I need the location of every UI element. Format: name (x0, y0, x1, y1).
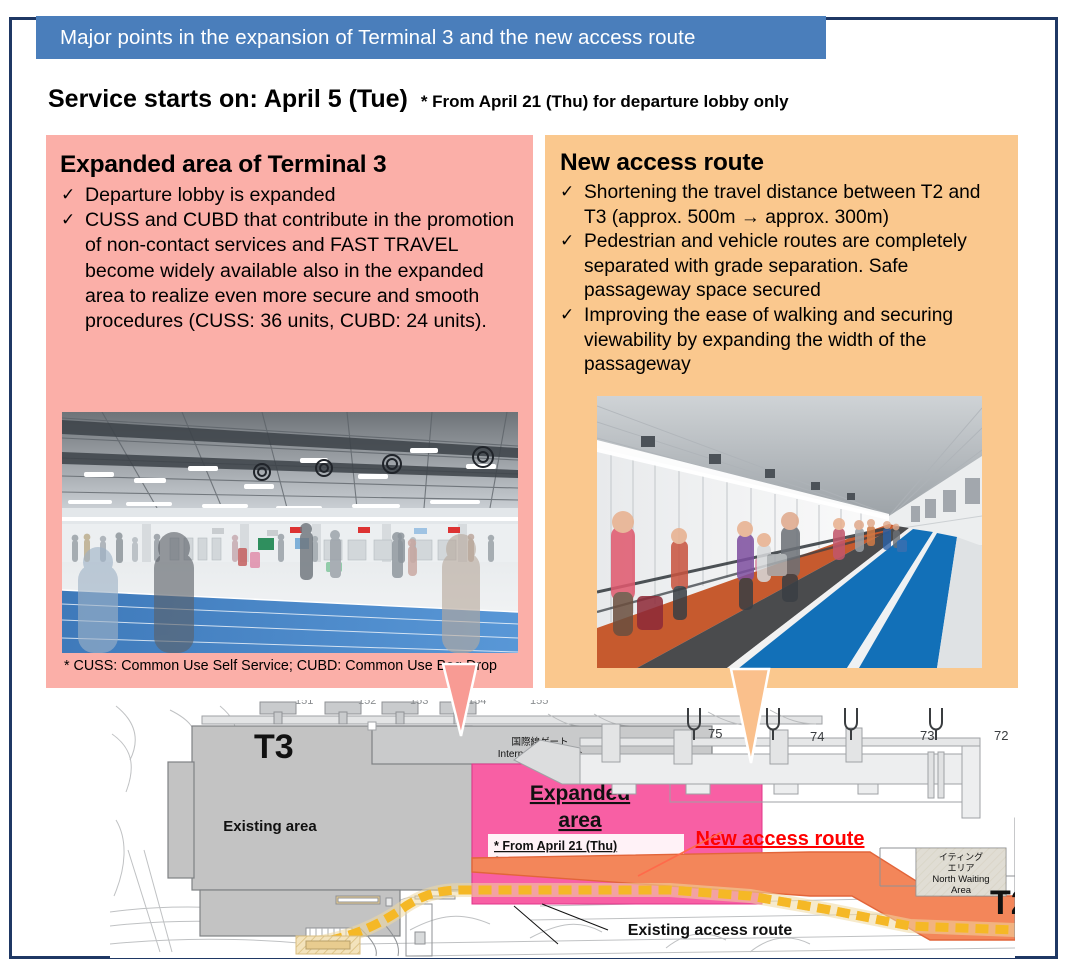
svg-text:152: 152 (358, 700, 376, 707)
list-item: ✓ CUSS and CUBD that contribute in the p… (60, 208, 521, 334)
list-item-label: Pedestrian and vehicle routes are comple… (584, 231, 967, 301)
panel-left-heading: Expanded area of Terminal 3 (46, 135, 533, 181)
list-item: ✓ Pedestrian and vehicle routes are comp… (559, 230, 1006, 304)
map-expanded-note-line1: * From April 21 (Thu) (494, 839, 617, 853)
panel-left-bullets: ✓ Departure lobby is expanded ✓ CUSS and… (46, 181, 533, 334)
map-label-t2: T2 (990, 884, 1015, 922)
map-label-existing-area: Existing area (223, 818, 317, 835)
list-item-label: Improving the ease of walking and securi… (584, 305, 953, 375)
map-north-waiting-en1: North Waiting (932, 874, 989, 885)
panel-right-bullets: ✓ Shortening the travel distance between… (545, 179, 1018, 378)
check-icon: ✓ (61, 207, 75, 232)
pink-arrow-icon (440, 662, 480, 738)
list-item: ✓ Departure lobby is expanded (60, 183, 521, 208)
service-start-line: Service starts on: April 5 (Tue) * From … (48, 85, 1008, 119)
list-item-label: Shortening the travel distance between T… (584, 182, 980, 228)
departure-lobby-photo (62, 412, 518, 653)
gate-number-73: 73 (920, 728, 934, 743)
check-icon: ✓ (560, 303, 574, 328)
airport-map: 151152 153154155 T3 Existing area 国際線ゲート… (110, 700, 1015, 958)
pink-pointer-arrow (440, 662, 480, 743)
list-item: ✓ Shortening the travel distance between… (559, 181, 1006, 230)
gate-number-75: 75 (708, 726, 722, 741)
service-start-date: Service starts on: April 5 (Tue) (48, 85, 408, 114)
map-north-waiting-jp1: イティング (939, 851, 983, 863)
list-item: ✓ Improving the ease of walking and secu… (559, 304, 1006, 378)
check-icon: ✓ (560, 180, 574, 205)
map-label-t3: T3 (254, 728, 294, 766)
map-label-existing-access-route: Existing access route (628, 922, 793, 939)
map-label-new-access-route: New access route (696, 828, 865, 850)
list-item-label: CUSS and CUBD that contribute in the pro… (85, 209, 514, 332)
orange-arrow-icon (727, 667, 773, 765)
check-icon: ✓ (61, 182, 75, 207)
panel-right-heading: New access route (545, 135, 1018, 179)
map-expanded-area-line2: area (558, 809, 602, 832)
header-title: Major points in the expansion of Termina… (60, 26, 695, 50)
list-item-label: Departure lobby is expanded (85, 184, 336, 206)
access-corridor-illustration (597, 396, 982, 668)
svg-text:155: 155 (530, 700, 548, 707)
access-corridor-photo (597, 396, 982, 668)
service-start-note: * From April 21 (Thu) for departure lobb… (421, 92, 789, 112)
svg-text:151: 151 (295, 700, 313, 707)
gate-number-72: 72 (994, 728, 1008, 743)
map-north-waiting-en2: Area (951, 885, 972, 896)
header-banner: Major points in the expansion of Termina… (36, 16, 826, 59)
orange-pointer-arrow (727, 667, 773, 770)
gate-number-74: 74 (810, 729, 824, 744)
map-north-waiting-jp2: エリア (947, 864, 974, 874)
check-icon: ✓ (560, 229, 574, 254)
svg-text:153: 153 (410, 700, 428, 707)
departure-lobby-illustration (62, 412, 518, 653)
airport-map-svg: 151152 153154155 T3 Existing area 国際線ゲート… (110, 700, 1015, 958)
